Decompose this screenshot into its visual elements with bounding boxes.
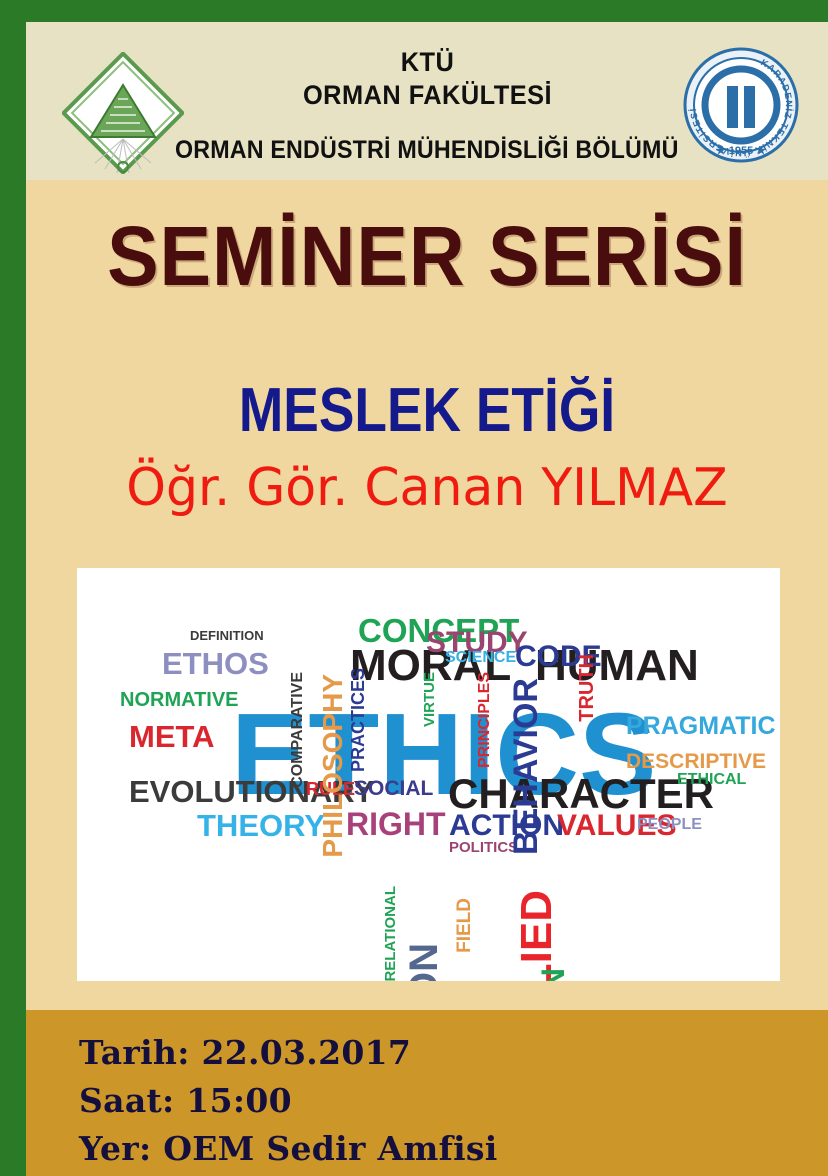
word-cloud-term: SOCIAL — [354, 778, 433, 799]
word-cloud-term: FIELD — [455, 898, 474, 953]
word-cloud-term: PEOPLE — [637, 817, 702, 833]
word-cloud-term: RIGHT — [346, 808, 446, 840]
department-title: ORMAN ENDÜSTRİ MÜHENDİSLİĞİ BÖLÜMÜ — [175, 136, 679, 165]
event-place: Yer: OEM Sedir Amfisi — [79, 1132, 498, 1165]
word-cloud-term: PRINCIPLES — [477, 672, 493, 768]
poster-top-border — [0, 0, 828, 22]
institution-line-1: KTÜ — [302, 46, 551, 79]
word-cloud-term: SCIENCE — [445, 650, 516, 666]
word-cloud-term: NORMATIVE — [120, 690, 239, 710]
word-cloud-term: RELATIONAL — [383, 886, 398, 981]
poster-footer: Tarih: 22.03.2017 Saat: 15:00 Yer: OEM S… — [26, 1010, 828, 1176]
word-cloud-term: PRACTICES — [349, 668, 367, 772]
word-cloud-term: META — [129, 721, 215, 752]
word-cloud-term: PHILOSOPHY — [319, 674, 347, 858]
word-cloud-term: COMPARATIVE — [290, 672, 306, 788]
word-cloud-term: POSTMODERN — [537, 968, 569, 981]
word-cloud-term: TRUTH — [577, 654, 597, 722]
speaker-name: Öğr. Gör. Canan YILMAZ — [38, 458, 816, 518]
word-cloud-term: BEHAVIOR — [509, 678, 543, 855]
event-time: Saat: 15:00 — [79, 1084, 292, 1117]
word-cloud-term: ETHOS — [162, 648, 269, 679]
institution-title: KTÜ ORMAN FAKÜLTESİ — [302, 46, 551, 112]
institution-line-2: ORMAN FAKÜLTESİ — [302, 79, 551, 112]
seminar-topic-title: MESLEK ETİĞİ — [82, 375, 772, 446]
poster-header: KARADENİZ TEKNİK ÜNİVERSİTESİ ★ 1955 ★ K… — [26, 22, 828, 180]
seminar-series-title: SEMİNER SERİSİ — [58, 208, 796, 305]
poster-body: SEMİNER SERİSİ MESLEK ETİĞİ Öğr. Gör. Ca… — [26, 180, 828, 1010]
word-cloud-term: DEFINITION — [190, 629, 264, 642]
poster-left-border — [0, 0, 26, 1176]
event-date: Tarih: 22.03.2017 — [79, 1036, 411, 1069]
word-cloud-term: DESCRIPTIVE — [626, 751, 766, 772]
word-cloud-term: VIRTUE — [422, 672, 437, 727]
word-cloud-term: PRAGMATIC — [626, 714, 776, 739]
word-cloud-term: THEORY — [197, 810, 325, 841]
ethics-word-cloud: ETHICSMORALCONCEPTHUMANCHARACTEREVOLUTIO… — [77, 568, 780, 981]
seminar-poster: KARADENİZ TEKNİK ÜNİVERSİTESİ ★ 1955 ★ K… — [0, 0, 828, 1176]
word-cloud-term: DECISION — [404, 943, 444, 981]
word-cloud-term: ETHICAL — [677, 772, 746, 788]
